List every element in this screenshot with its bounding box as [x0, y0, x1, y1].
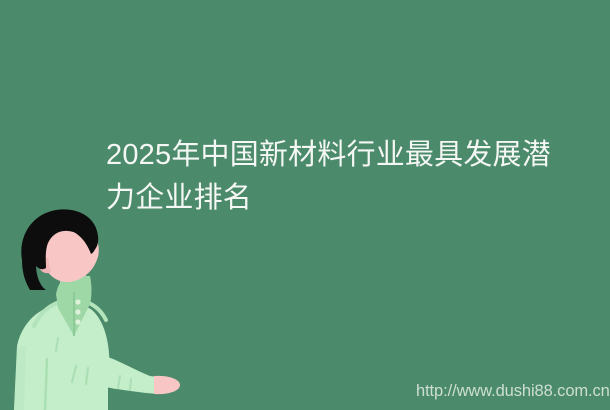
collar-button-2: [75, 309, 80, 314]
source-url-watermark: http://www.dushi88.com.cn: [416, 381, 610, 401]
arm-group: [96, 354, 180, 394]
sleeve-crease-b: [130, 379, 131, 390]
hand: [154, 376, 180, 394]
person-illustration: [0, 196, 200, 410]
collar-button-3: [75, 319, 80, 324]
page-title: 2025年中国新材料行业最具发展潜力企业排名: [106, 134, 558, 220]
hoodie-body: [14, 304, 109, 410]
hoodie-left-shade: [14, 346, 26, 410]
cover-image-canvas: 2025年中国新材料行业最具发展潜力企业排名 http://www.dushi8…: [0, 0, 610, 410]
collar-button-1: [75, 299, 80, 304]
hoodie-body-group: [14, 304, 109, 410]
